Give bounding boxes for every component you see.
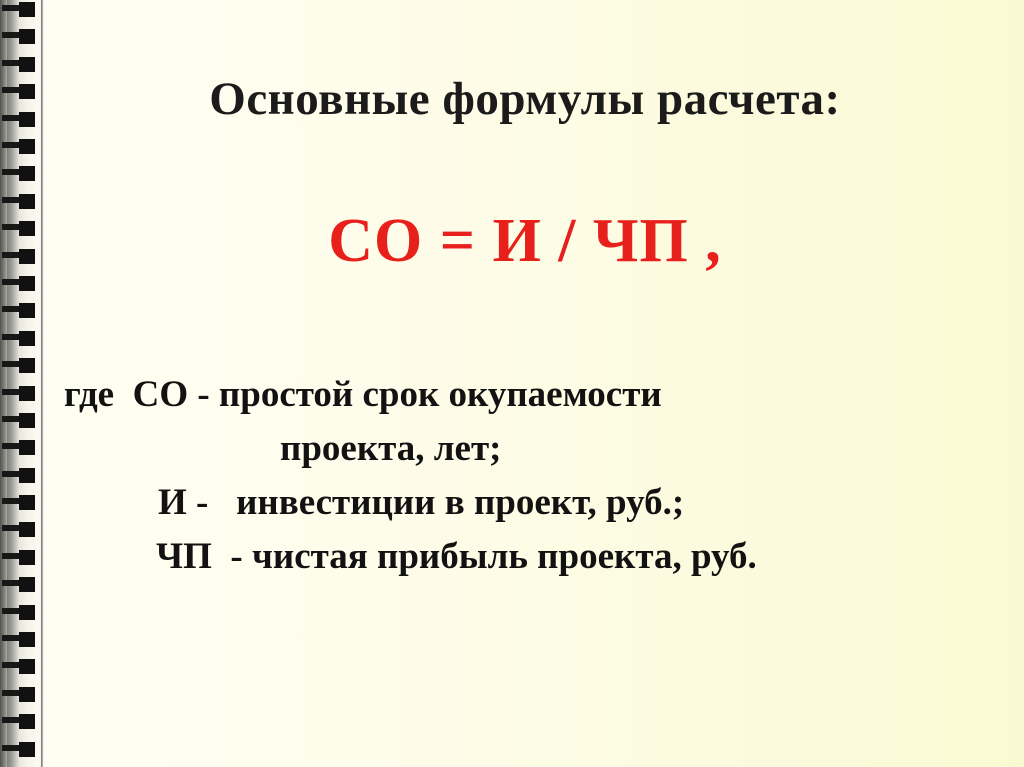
spiral-ring [0,659,38,677]
legend-line-i: И - инвестиции в проект, руб.; [48,476,1013,530]
spiral-ring [0,468,38,486]
spiral-ring [0,166,38,184]
page-title: Основные формулы расчета: [60,72,990,126]
spiral-ring [0,2,38,20]
spiral-ring [0,714,38,732]
binding-divider-line [41,0,43,767]
spiral-binding-strip [0,0,44,767]
formula-legend: где СО - простой срок окупаемости проект… [48,368,1013,584]
spiral-ring [0,112,38,130]
spiral-ring [0,139,38,157]
spiral-ring [0,413,38,431]
main-formula: СО = И / ЧП , [60,206,990,277]
spiral-ring [0,358,38,376]
legend-line-so: где СО - простой срок окупаемости [48,368,1013,422]
spiral-ring [0,742,38,760]
spiral-ring [0,29,38,47]
spiral-ring [0,194,38,212]
spiral-ring [0,57,38,75]
spiral-ring [0,221,38,239]
spiral-ring [0,495,38,513]
spiral-ring [0,632,38,650]
spiral-rings-group [0,0,44,767]
presentation-slide: Основные формулы расчета: СО = И / ЧП , … [0,0,1024,767]
spiral-ring [0,386,38,404]
spiral-ring [0,577,38,595]
legend-line-chp: ЧП - чистая прибыль проекта, руб. [48,530,1013,584]
spiral-ring [0,303,38,321]
spiral-ring [0,440,38,458]
legend-line-so-cont: проекта, лет; [48,422,1013,476]
spiral-ring [0,605,38,623]
spiral-ring [0,84,38,102]
spiral-ring [0,550,38,568]
spiral-ring [0,249,38,267]
spiral-ring [0,331,38,349]
spiral-ring [0,522,38,540]
spiral-ring [0,687,38,705]
spiral-ring [0,276,38,294]
